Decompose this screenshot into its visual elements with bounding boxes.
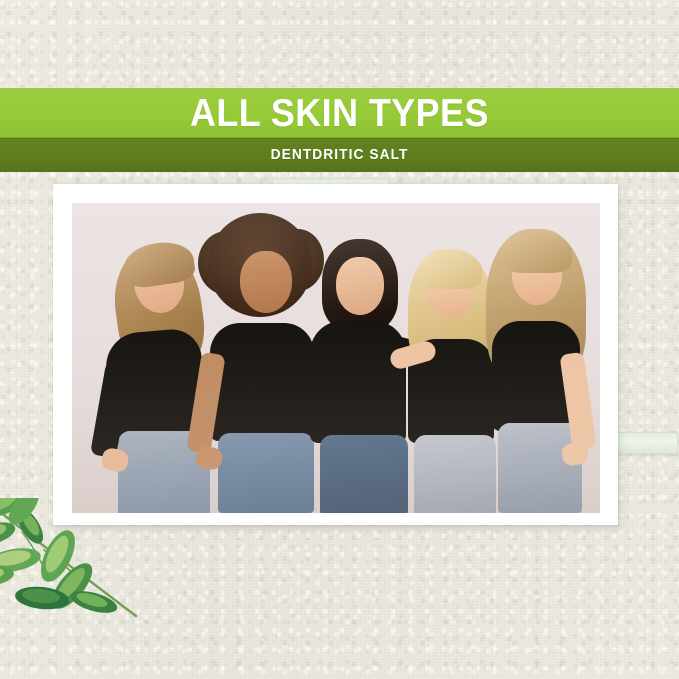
subtitle-banner: DENTDRITIC SALT	[0, 138, 679, 172]
title-banner: ALL SKIN TYPES	[0, 88, 679, 138]
photo-subject-woman-5	[470, 203, 600, 513]
olive-branch-icon	[0, 498, 161, 648]
photo-frame	[53, 184, 618, 525]
hair-front	[502, 233, 572, 273]
page-title: ALL SKIN TYPES	[190, 94, 489, 133]
poster-canvas: ALL SKIN TYPES DENTDRITIC SALT	[0, 0, 679, 679]
jeans	[498, 423, 582, 513]
face	[240, 251, 292, 313]
group-photo	[72, 203, 600, 513]
hand	[560, 441, 589, 467]
face	[336, 257, 384, 315]
page-subtitle: DENTDRITIC SALT	[271, 148, 409, 163]
